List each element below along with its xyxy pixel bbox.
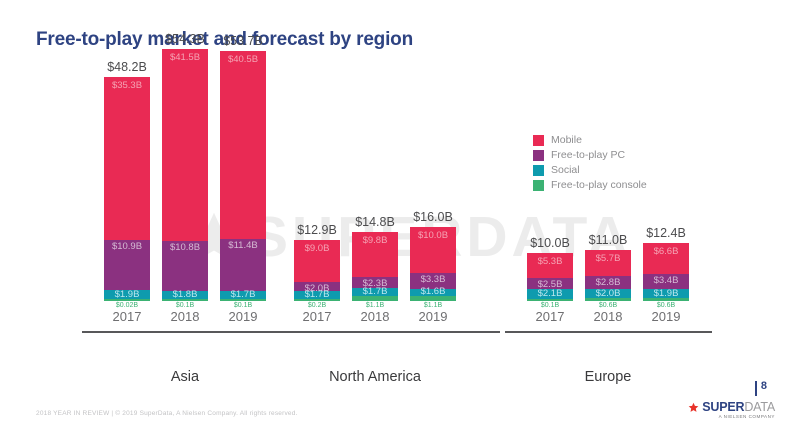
- region-label-north-america: North America: [329, 369, 421, 385]
- bar-europe-2017[interactable]: $10.0B$5.3B$2.5B$2.1B$0.1B2017: [527, 253, 573, 301]
- bar-segment-social[interactable]: $1.6B: [410, 289, 456, 296]
- x-axis-year-label: 2018: [361, 309, 390, 324]
- logo-tagline: A NIELSEN COMPANY: [689, 414, 775, 419]
- x-axis-year-label: 2018: [171, 309, 200, 324]
- legend-swatch-icon: [533, 180, 544, 191]
- x-axis-year-label: 2019: [419, 309, 448, 324]
- legend-swatch-icon: [533, 165, 544, 176]
- bar-segment-mobile[interactable]: $6.6B: [643, 243, 689, 273]
- bar-asia-2017[interactable]: $48.2B$35.3B$10.9B$1.9B$0.02B2017: [104, 77, 150, 301]
- bar-segment-social[interactable]: $1.7B: [352, 288, 398, 296]
- bar-segment-social[interactable]: $2.0B: [585, 289, 631, 298]
- bar-segment-pc[interactable]: $10.8B: [162, 241, 208, 291]
- legend-item-free-to-play-pc[interactable]: Free-to-play PC: [533, 149, 647, 161]
- bar-segment-console[interactable]: [643, 298, 689, 301]
- segment-value-label: $10.9B: [112, 242, 142, 252]
- legend-swatch-icon: [533, 135, 544, 146]
- bar-segment-console[interactable]: [527, 299, 573, 301]
- bar-segment-social[interactable]: $1.8B: [162, 291, 208, 299]
- x-axis-year-label: 2017: [113, 309, 142, 324]
- segment-value-label: $2.1B: [538, 289, 563, 299]
- segment-value-label: $5.3B: [538, 257, 563, 267]
- bar-total-label: $11.0B: [589, 233, 628, 247]
- bar-segment-pc[interactable]: $3.4B: [643, 274, 689, 290]
- bar-segment-social[interactable]: $1.7B: [294, 291, 340, 299]
- segment-value-label: $40.5B: [228, 55, 258, 65]
- bar-north-america-2018[interactable]: $14.8B$9.8B$2.3B$1.7B$1.1B2018: [352, 232, 398, 301]
- slide-canvas: Free-to-play market and forecast by regi…: [0, 0, 789, 430]
- bar-segment-social[interactable]: $1.7B: [220, 291, 266, 299]
- x-axis-year-label: 2019: [652, 309, 681, 324]
- bar-segment-mobile[interactable]: $41.5B: [162, 49, 208, 241]
- legend-swatch-icon: [533, 150, 544, 161]
- x-axis-year-label: 2018: [594, 309, 623, 324]
- x-axis-year-label: 2019: [229, 309, 258, 324]
- console-value-label: $0.2B: [308, 302, 326, 309]
- stacked-bar: $12.9B$9.0B$2.0B$1.7B$0.2B2017: [294, 240, 340, 301]
- star-icon: [688, 402, 699, 413]
- segment-value-label: $10.8B: [170, 243, 200, 253]
- bar-total-label: $14.8B: [355, 215, 395, 229]
- bar-segment-pc[interactable]: $11.4B: [220, 239, 266, 292]
- segment-value-label: $41.5B: [170, 53, 200, 63]
- segment-value-label: $1.9B: [115, 290, 140, 300]
- bar-segment-console[interactable]: [294, 299, 340, 301]
- chart-axis-line: [505, 331, 712, 333]
- bar-segment-mobile[interactable]: $5.7B: [585, 250, 631, 276]
- console-value-label: $0.6B: [657, 302, 675, 309]
- logo-super-text: SUPER: [702, 400, 744, 414]
- stacked-bar: $12.4B$6.6B$3.4B$1.9B$0.6B2019: [643, 243, 689, 301]
- stacked-bar-chart: $48.2B$35.3B$10.9B$1.9B$0.02B2017$54.3B$…: [0, 0, 789, 400]
- legend-item-free-to-play-console[interactable]: Free-to-play console: [533, 179, 647, 191]
- bar-north-america-2017[interactable]: $12.9B$9.0B$2.0B$1.7B$0.2B2017: [294, 240, 340, 301]
- segment-value-label: $9.8B: [363, 236, 388, 246]
- legend-item-label: Mobile: [551, 134, 582, 146]
- bar-total-label: $54.3B: [165, 32, 205, 46]
- console-value-label: $1.1B: [424, 302, 442, 309]
- logo-data-text: DATA: [744, 400, 775, 414]
- segment-value-label: $6.6B: [654, 247, 679, 257]
- segment-value-label: $11.4B: [228, 241, 257, 251]
- stacked-bar: $53.7B$40.5B$11.4B$1.7B$0.1B2019: [220, 51, 266, 301]
- segment-value-label: $2.0B: [596, 289, 621, 299]
- console-value-label: $0.1B: [176, 302, 194, 309]
- console-value-label: $0.1B: [234, 302, 252, 309]
- stacked-bar: $48.2B$35.3B$10.9B$1.9B$0.02B2017: [104, 77, 150, 301]
- bar-segment-mobile[interactable]: $5.3B: [527, 253, 573, 277]
- bar-segment-pc[interactable]: $10.9B: [104, 240, 150, 290]
- region-label-europe: Europe: [585, 369, 632, 385]
- bar-total-label: $10.0B: [530, 236, 570, 250]
- console-value-label: $0.02B: [116, 302, 138, 309]
- bar-north-america-2019[interactable]: $16.0B$10.0B$3.3B$1.6B$1.1B2019: [410, 227, 456, 301]
- console-value-label: $0.1B: [541, 302, 559, 309]
- bar-total-label: $12.9B: [297, 223, 337, 237]
- stacked-bar: $16.0B$10.0B$3.3B$1.6B$1.1B2019: [410, 227, 456, 301]
- segment-value-label: $2.8B: [596, 278, 621, 288]
- chart-axis-line: [272, 331, 500, 333]
- x-axis-year-label: 2017: [536, 309, 565, 324]
- segment-value-label: $1.9B: [654, 289, 679, 299]
- bar-segment-console[interactable]: [162, 299, 208, 301]
- bar-segment-mobile[interactable]: $9.8B: [352, 232, 398, 277]
- console-value-label: $1.1B: [366, 302, 384, 309]
- bar-segment-console[interactable]: [220, 299, 266, 301]
- bar-total-label: $53.7B: [223, 34, 263, 48]
- legend-item-label: Social: [551, 164, 580, 176]
- bar-segment-console[interactable]: [352, 296, 398, 301]
- bar-asia-2019[interactable]: $53.7B$40.5B$11.4B$1.7B$0.1B2019: [220, 51, 266, 301]
- chart-axis-line: [82, 331, 285, 333]
- stacked-bar: $54.3B$41.5B$10.8B$1.8B$0.1B2018: [162, 49, 208, 301]
- stacked-bar: $10.0B$5.3B$2.5B$2.1B$0.1B2017: [527, 253, 573, 301]
- bar-total-label: $16.0B: [413, 210, 453, 224]
- segment-value-label: $5.7B: [596, 254, 621, 264]
- segment-value-label: $3.3B: [421, 275, 446, 285]
- bar-segment-social[interactable]: $1.9B: [104, 290, 150, 299]
- bar-segment-mobile[interactable]: $35.3B: [104, 77, 150, 240]
- stacked-bar: $14.8B$9.8B$2.3B$1.7B$1.1B2018: [352, 232, 398, 301]
- segment-value-label: $35.3B: [112, 81, 142, 91]
- footer-copyright: 2018 YEAR IN REVIEW | © 2019 SuperData, …: [36, 410, 298, 417]
- bar-segment-social[interactable]: $2.1B: [527, 289, 573, 299]
- legend-item-social[interactable]: Social: [533, 164, 647, 176]
- bar-segment-mobile[interactable]: $9.0B: [294, 240, 340, 282]
- stacked-bar: $11.0B$5.7B$2.8B$2.0B$0.6B2018: [585, 250, 631, 301]
- bar-total-label: $48.2B: [107, 60, 147, 74]
- bar-segment-console[interactable]: [410, 296, 456, 301]
- bar-segment-social[interactable]: $1.9B: [643, 289, 689, 298]
- bar-asia-2018[interactable]: $54.3B$41.5B$10.8B$1.8B$0.1B2018: [162, 49, 208, 301]
- region-label-asia: Asia: [171, 369, 199, 385]
- legend-item-label: Free-to-play PC: [551, 149, 625, 161]
- bar-segment-console[interactable]: [585, 298, 631, 301]
- bar-europe-2019[interactable]: $12.4B$6.6B$3.4B$1.9B$0.6B2019: [643, 243, 689, 301]
- segment-value-label: $3.4B: [654, 276, 679, 286]
- x-axis-year-label: 2017: [303, 309, 332, 324]
- superdata-logo: SUPERDATA: [688, 400, 775, 414]
- chart-legend: MobileFree-to-play PCSocialFree-to-play …: [533, 134, 647, 194]
- legend-item-mobile[interactable]: Mobile: [533, 134, 647, 146]
- bar-segment-console[interactable]: [104, 299, 150, 301]
- bar-segment-mobile[interactable]: $10.0B: [410, 227, 456, 273]
- bar-segment-mobile[interactable]: $40.5B: [220, 51, 266, 238]
- segment-value-label: $10.0B: [418, 231, 448, 241]
- console-value-label: $0.6B: [599, 302, 617, 309]
- bar-europe-2018[interactable]: $11.0B$5.7B$2.8B$2.0B$0.6B2018: [585, 250, 631, 301]
- legend-item-label: Free-to-play console: [551, 179, 647, 191]
- bar-total-label: $12.4B: [646, 226, 686, 240]
- segment-value-label: $9.0B: [305, 244, 330, 254]
